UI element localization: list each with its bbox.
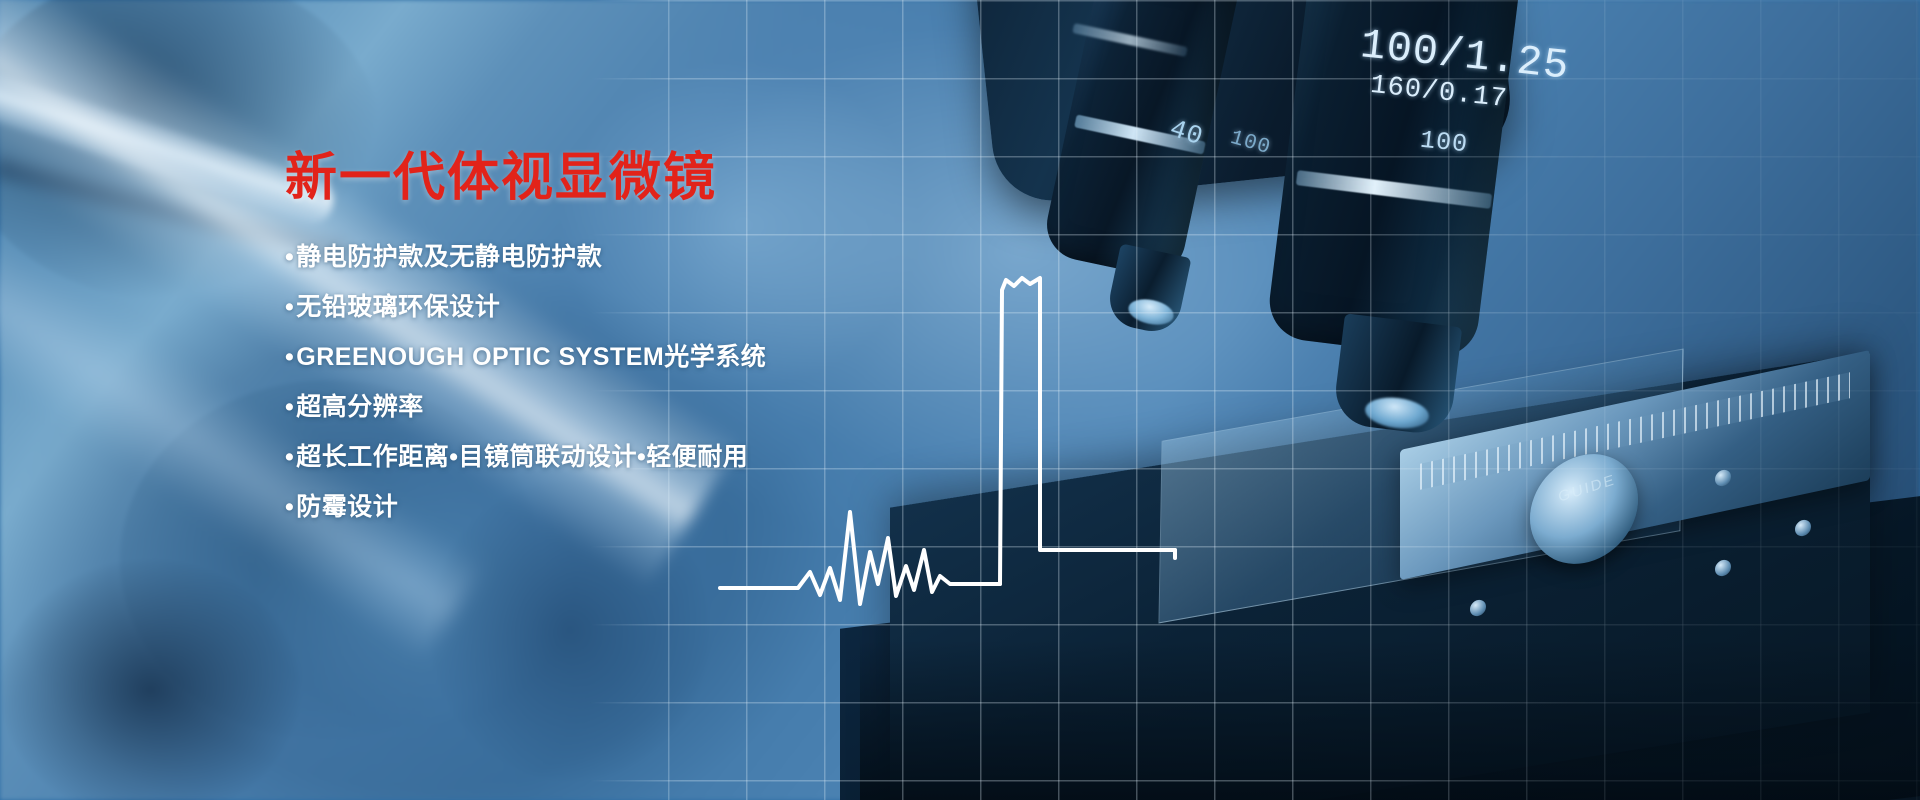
bullet-dot: • [285, 443, 294, 471]
list-item-label: 超长工作距离•目镜筒联动设计•轻便耐用 [296, 443, 748, 471]
copy-block: 新一代体视显微镜 •静电防护款及无静电防护款 •无铅玻璃环保设计 •GREENO… [285, 150, 905, 545]
bullet-dot: • [285, 293, 294, 321]
list-item-label: 无铅玻璃环保设计 [296, 293, 500, 321]
list-item-label: GREENOUGH OPTIC SYSTEM光学系统 [296, 343, 766, 371]
list-item: •无铅玻璃环保设计 [285, 295, 905, 320]
product-banner: GUIDE 40 100 100/1.25 160/0.17 100 [0, 0, 1920, 800]
feature-list: •静电防护款及无静电防护款 •无铅玻璃环保设计 •GREENOUGH OPTIC… [285, 245, 905, 520]
list-item: •GREENOUGH OPTIC SYSTEM光学系统 [285, 345, 905, 370]
list-item: •防霉设计 [285, 495, 905, 520]
list-item: •超长工作距离•目镜筒联动设计•轻便耐用 [285, 445, 905, 470]
square-pulse-trace [1000, 278, 1175, 584]
list-item: •静电防护款及无静电防护款 [285, 245, 905, 270]
list-item-label: 超高分辨率 [296, 393, 424, 421]
page-title: 新一代体视显微镜 [285, 150, 905, 207]
bullet-dot: • [285, 393, 294, 421]
list-item: •超高分辨率 [285, 395, 905, 420]
bullet-dot: • [285, 243, 294, 271]
list-item-label: 静电防护款及无静电防护款 [296, 243, 602, 271]
bullet-dot: • [285, 493, 294, 521]
bullet-dot: • [285, 343, 294, 371]
list-item-label: 防霉设计 [296, 493, 398, 521]
